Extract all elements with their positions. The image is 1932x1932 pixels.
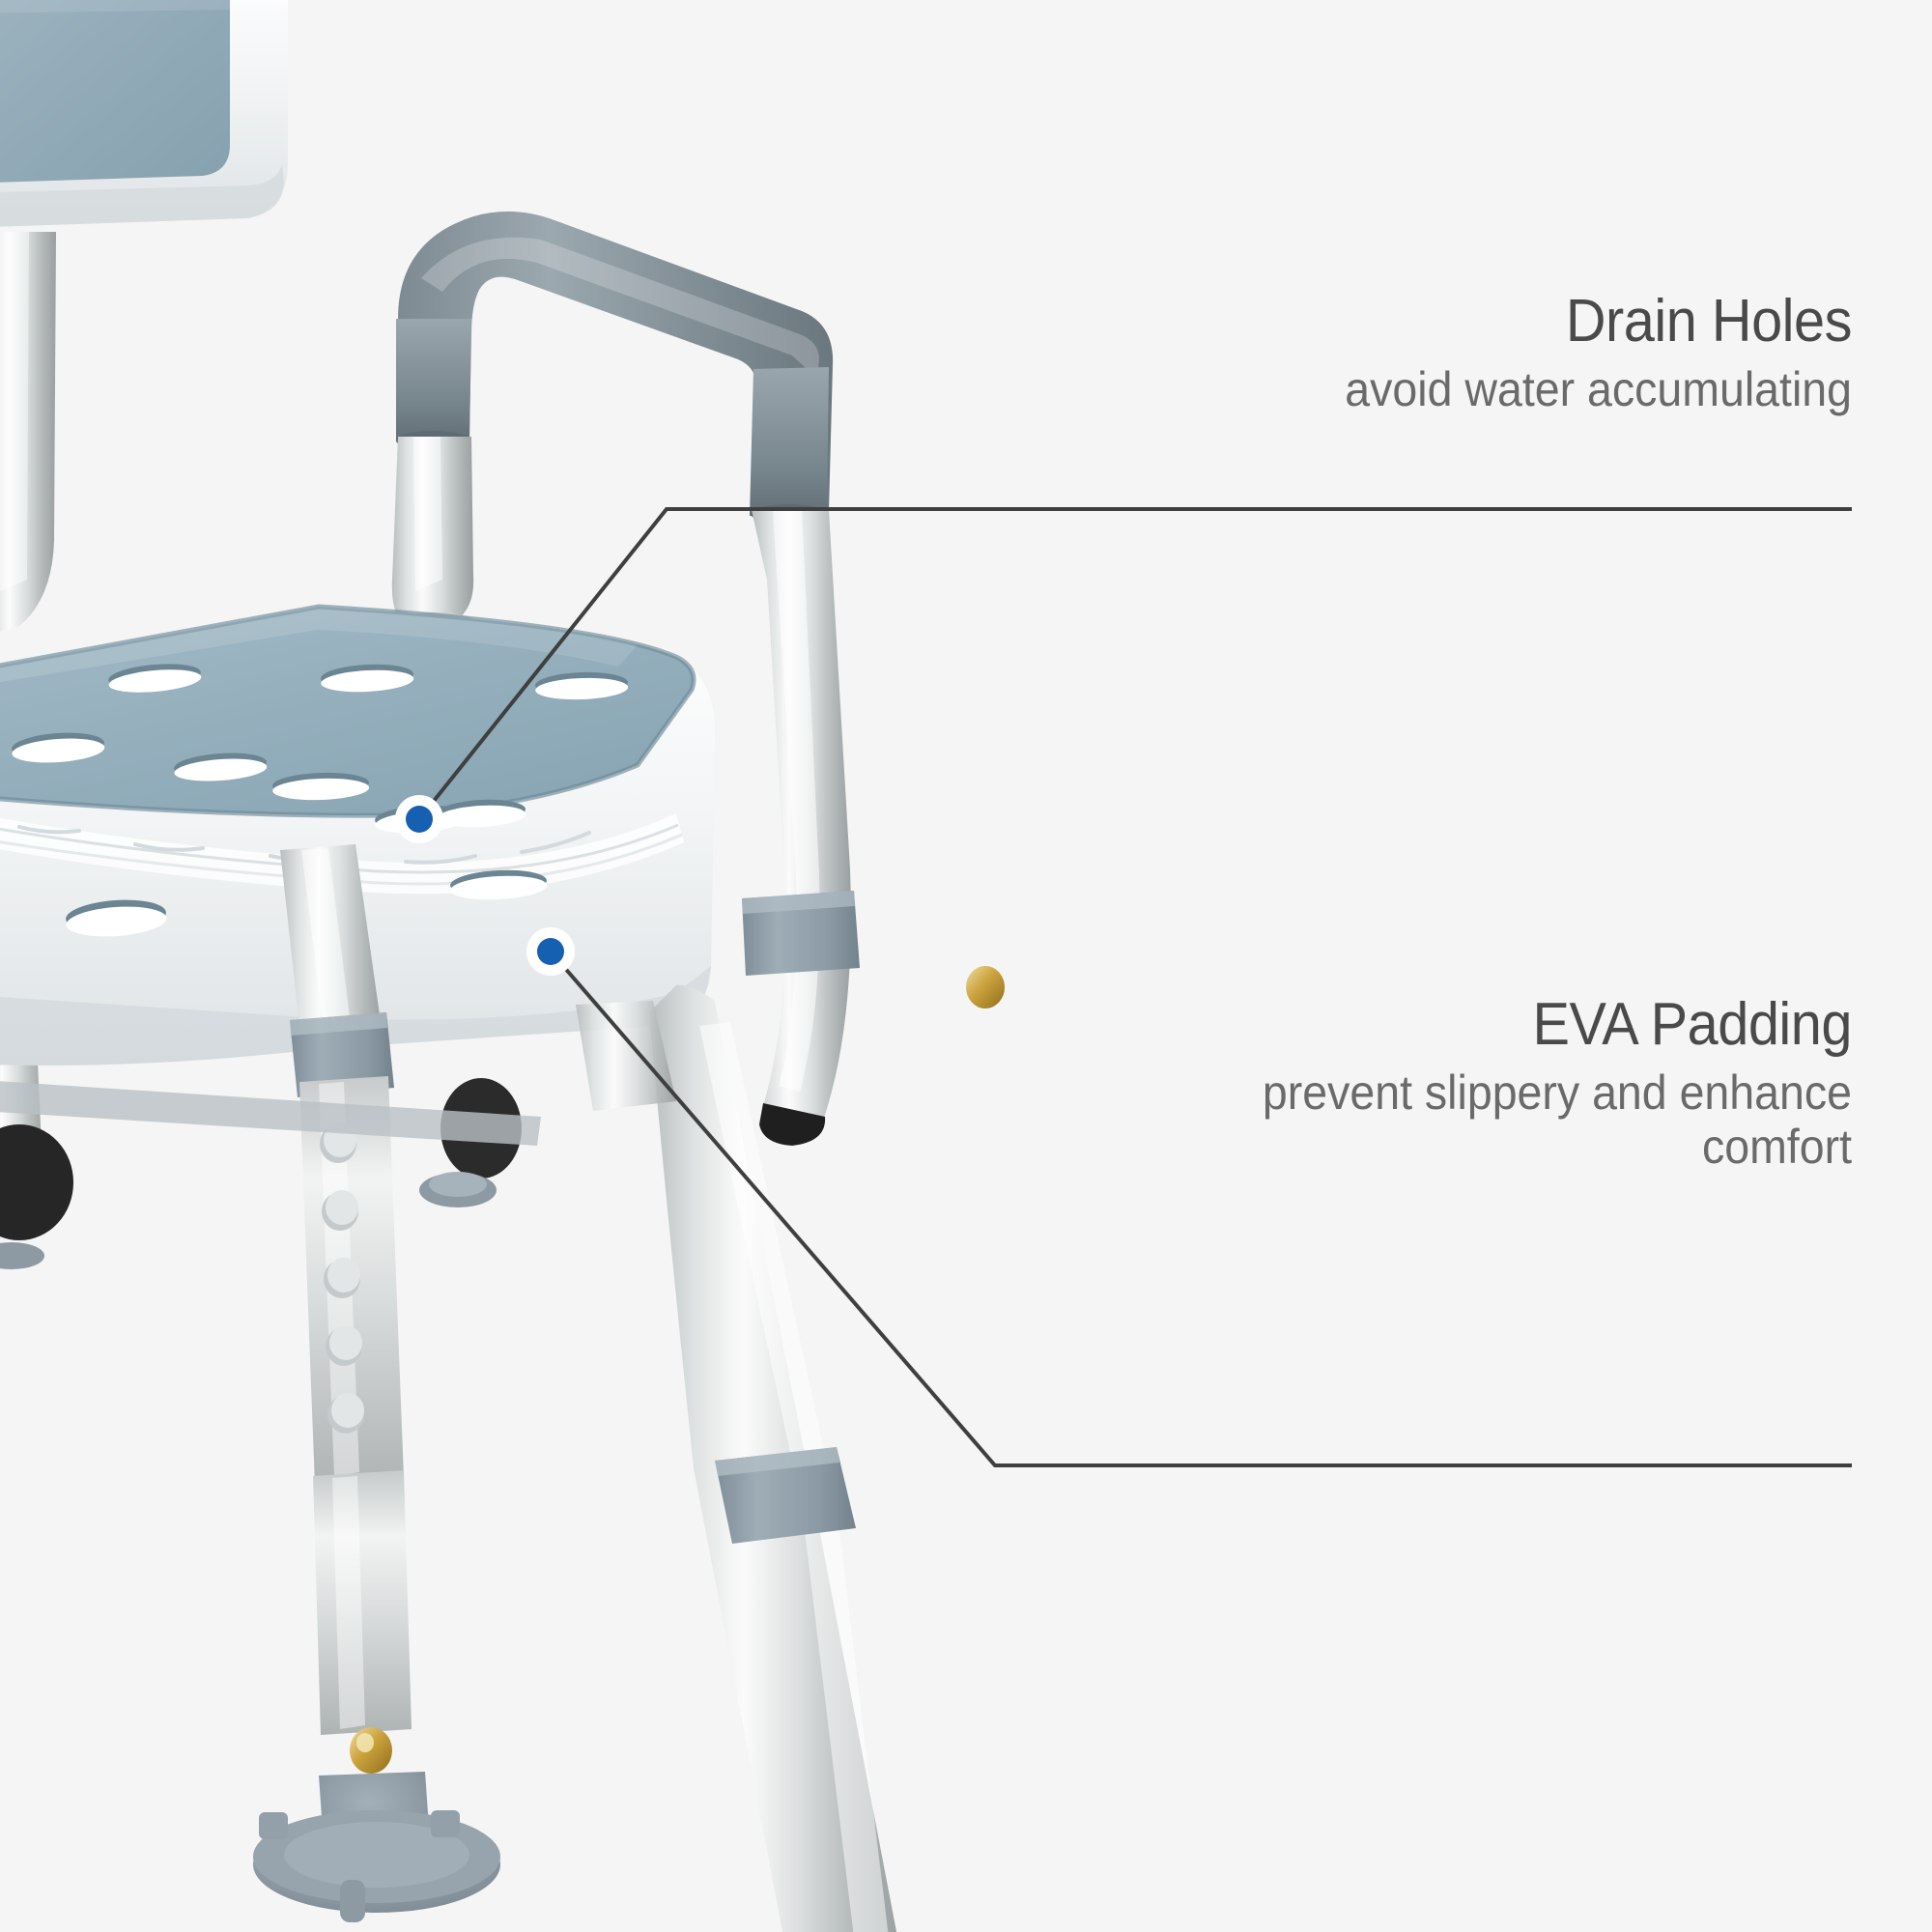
suction-cup-foot [253,1810,500,1922]
brass-knob-left-leg [350,1727,392,1774]
infographic-canvas: Drain Holes avoid water accumulating EVA… [0,0,1932,1932]
callout-drain-holes-title: Drain Holes [864,290,1852,353]
leg-collar-right [715,1447,856,1544]
callout-eva-padding-subtitle-line2: comfort [909,1120,1853,1174]
callout-eva-padding-subtitle-line1: prevent slippery and enhance [909,1065,1853,1120]
backrest-assembly [0,0,288,638]
seat-rubber-bumper [0,1124,73,1269]
callout-drain-holes-subtitle: avoid water accumulating [864,362,1852,416]
support-collar-upper [742,891,860,976]
callout-eva-padding-title: EVA Padding [909,993,1853,1056]
backrest-pad [0,0,230,184]
callout-drain-holes: Drain Holes avoid water accumulating [789,290,1852,416]
callout-eva-padding: EVA Padding prevent slippery and enhance… [838,993,1852,1174]
backrest-post [0,232,56,638]
